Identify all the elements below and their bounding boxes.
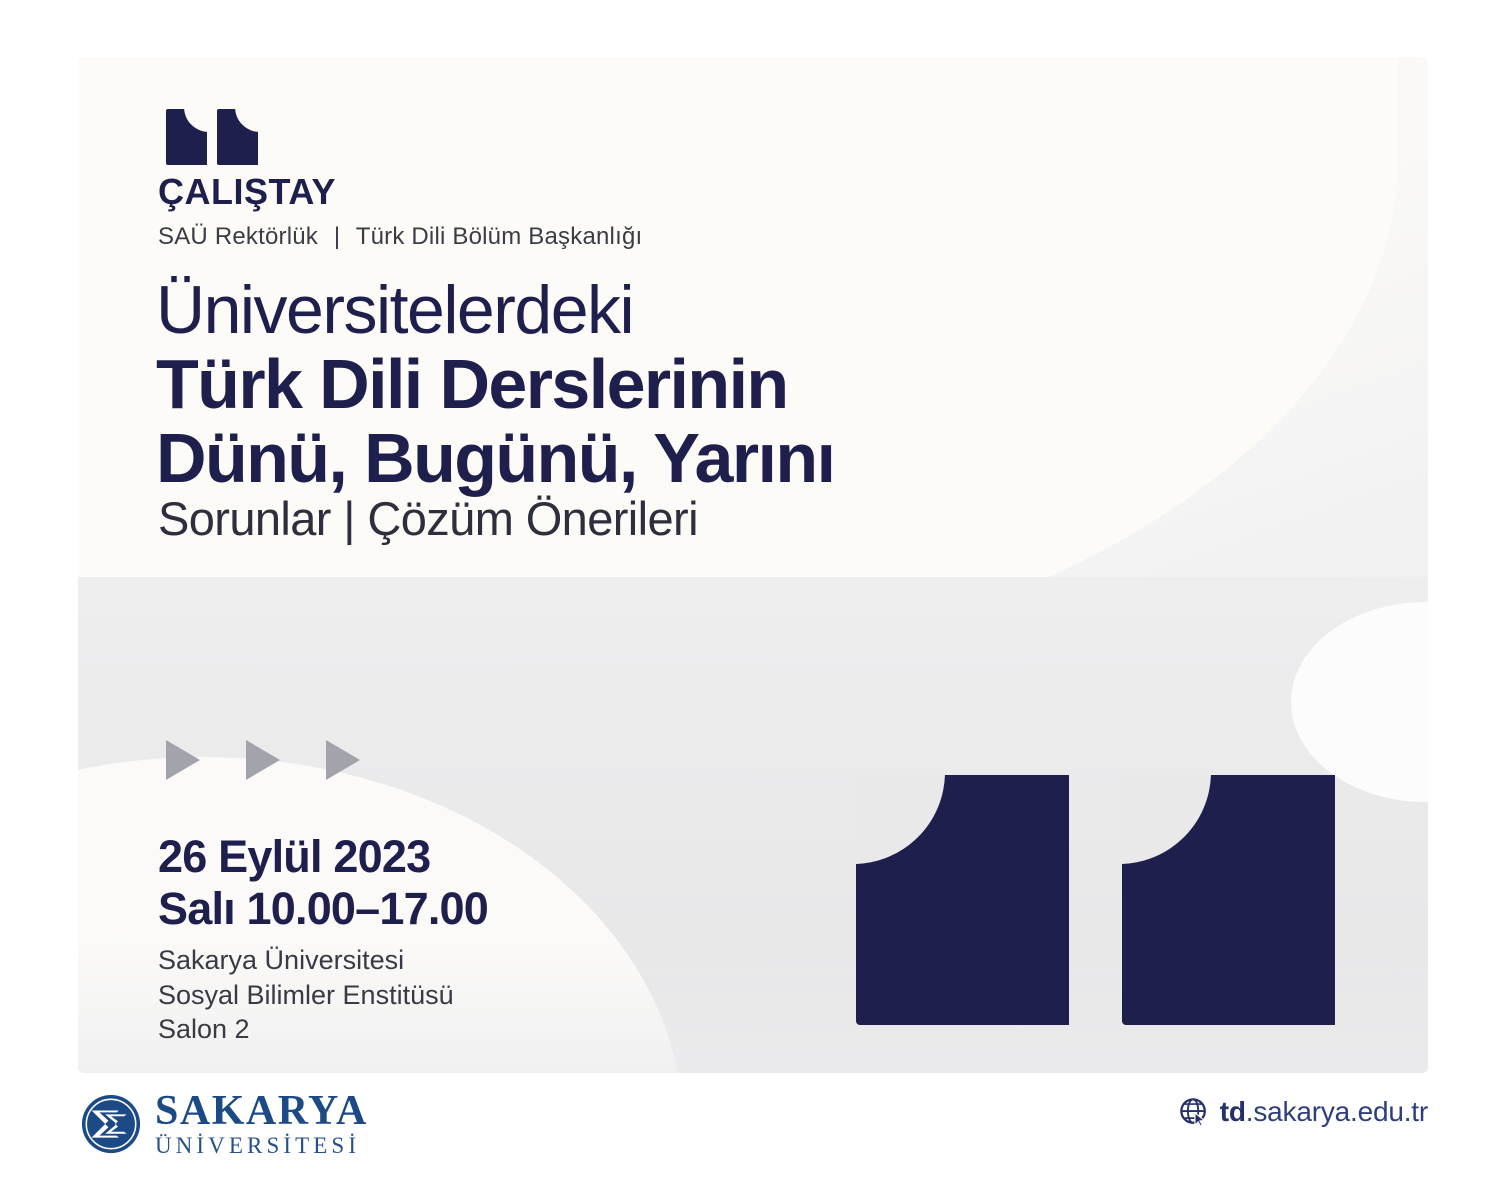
website-url-text: td.sakarya.edu.tr bbox=[1220, 1096, 1428, 1128]
quote-close-icon bbox=[856, 775, 1336, 1025]
globe-cursor-icon bbox=[1179, 1097, 1209, 1127]
play-triangle-icon bbox=[326, 740, 360, 780]
organizer-right: Türk Dili Bölüm Başkanlığı bbox=[356, 223, 643, 250]
website-url-bold: td bbox=[1220, 1096, 1246, 1127]
venue-line-3: Salon 2 bbox=[158, 1012, 454, 1047]
venue-line-1: Sakarya Üniversitesi bbox=[158, 943, 454, 978]
logo-wordmark: SAKARYA ÜNİVERSİTESİ bbox=[155, 1090, 368, 1157]
quote-open-icon bbox=[166, 109, 258, 165]
quote-open-glyph-left bbox=[166, 109, 207, 165]
poster-subtitle: Sorunlar | Çözüm Önerileri bbox=[158, 491, 698, 546]
venue-line-2: Sosyal Bilimler Enstitüsü bbox=[158, 978, 454, 1013]
title-line-2: Türk Dili Derslerinin bbox=[156, 350, 834, 419]
poster-panel: ÇALIŞTAY SAÜ Rektörlük | Türk Dili Bölüm… bbox=[78, 57, 1428, 1073]
play-triangle-icon bbox=[246, 740, 280, 780]
organizer-left: SAÜ Rektörlük bbox=[158, 223, 318, 250]
organizer-separator: | bbox=[325, 223, 349, 250]
play-triangle-icon bbox=[166, 740, 200, 780]
website-link[interactable]: td.sakarya.edu.tr bbox=[1179, 1096, 1428, 1128]
quote-open-glyph-right bbox=[217, 109, 258, 165]
sakarya-university-emblem-icon bbox=[80, 1093, 142, 1155]
poster-canvas: ÇALIŞTAY SAÜ Rektörlük | Türk Dili Bölüm… bbox=[0, 0, 1500, 1200]
quote-close-glyph-left bbox=[856, 775, 1069, 1025]
poster-organizers: SAÜ Rektörlük | Türk Dili Bölüm Başkanlı… bbox=[158, 225, 642, 249]
title-line-1: Üniversitelerdeki bbox=[156, 277, 834, 344]
quote-close-glyph-right bbox=[1122, 775, 1335, 1025]
poster-kicker: ÇALIŞTAY bbox=[158, 174, 336, 210]
sakarya-university-logo: SAKARYA ÜNİVERSİTESİ bbox=[80, 1090, 368, 1157]
logo-name: SAKARYA bbox=[155, 1090, 368, 1132]
event-day-time: Salı 10.00–17.00 bbox=[158, 885, 488, 933]
title-line-3: Dünü, Bugünü, Yarını bbox=[156, 424, 834, 493]
logo-subname: ÜNİVERSİTESİ bbox=[155, 1134, 368, 1157]
event-date: 26 Eylül 2023 bbox=[158, 833, 430, 881]
event-venue: Sakarya Üniversitesi Sosyal Bilimler Ens… bbox=[158, 943, 454, 1047]
poster-title: Üniversitelerdeki Türk Dili Derslerinin … bbox=[156, 277, 834, 493]
arrow-decoration-group bbox=[166, 740, 360, 780]
website-url-rest: .sakarya.edu.tr bbox=[1246, 1096, 1428, 1127]
